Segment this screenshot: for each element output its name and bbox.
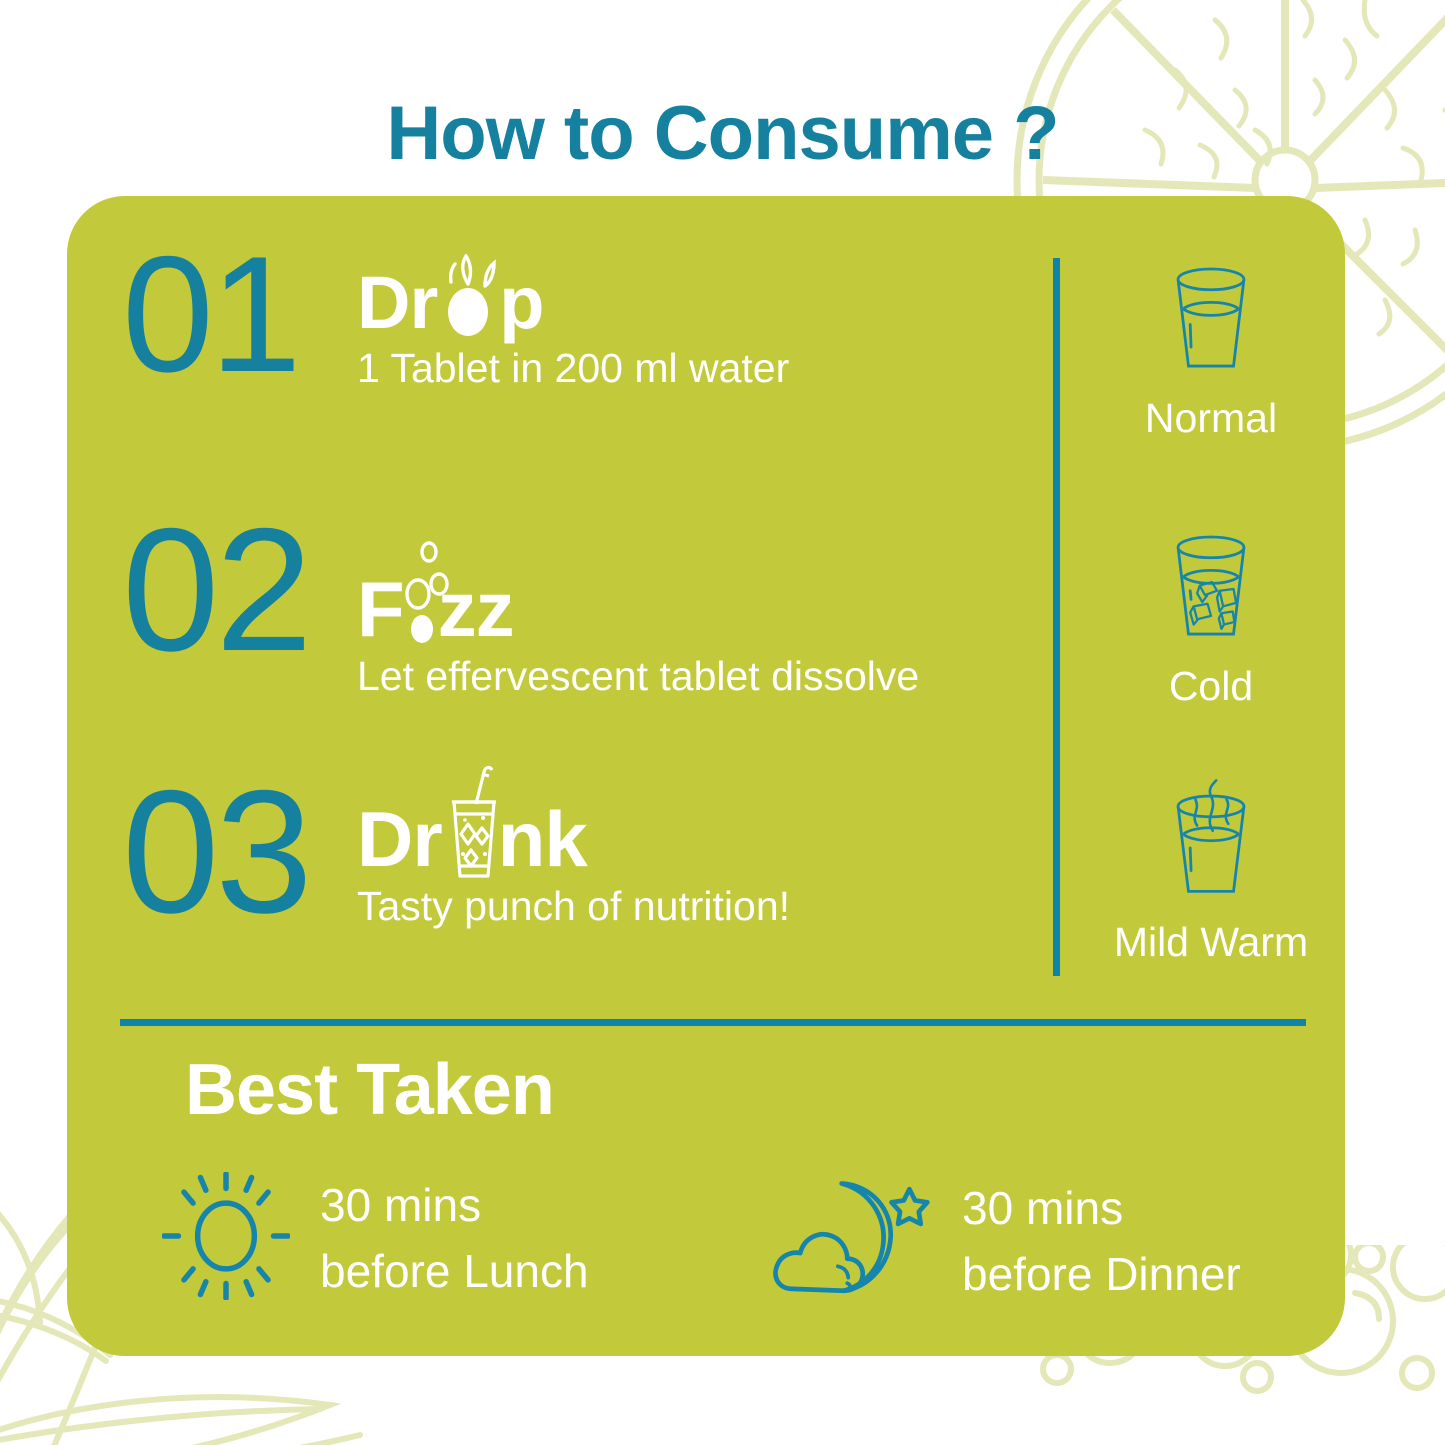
timing-line-2: before Dinner — [962, 1242, 1241, 1307]
bubbles-icon — [404, 570, 438, 648]
temperature-list: Normal — [1077, 196, 1345, 996]
timing-item-dinner: 30 mins before Dinner — [772, 1168, 1241, 1315]
glass-water-icon — [1077, 248, 1345, 383]
step-item-01: 01 Dr — [122, 244, 1052, 391]
step-word-fizz: F zz — [357, 570, 1052, 648]
glass-ice-icon — [1077, 516, 1345, 651]
step-subtitle: Tasty punch of nutrition! — [357, 884, 1052, 929]
step-number: 02 — [122, 516, 357, 667]
temperature-label: Mild Warm — [1077, 919, 1345, 966]
horizontal-divider — [120, 1019, 1306, 1026]
step-number: 03 — [122, 778, 357, 929]
timing-line-1: 30 mins — [962, 1176, 1241, 1241]
step-word-drop: Dr p — [357, 266, 1052, 340]
timing-text: 30 mins before Dinner — [962, 1176, 1241, 1307]
timing-item-lunch: 30 mins before Lunch — [162, 1172, 589, 1305]
step-item-02: 02 F — [122, 516, 1052, 699]
step-word-suffix: nk — [498, 802, 587, 876]
glass-steam-icon — [1077, 772, 1345, 907]
temperature-item-normal: Normal — [1077, 248, 1345, 442]
steps-list: 01 Dr — [67, 196, 1057, 996]
page-title: How to Consume ? — [0, 96, 1445, 172]
step-subtitle: 1 Tablet in 200 ml water — [357, 346, 1052, 391]
temperature-label: Cold — [1077, 663, 1345, 710]
step-body: F zz — [357, 516, 1052, 699]
main-card: 01 Dr — [67, 196, 1345, 1356]
step-subtitle: Let effervescent tablet dissolve — [357, 654, 1052, 699]
temperature-item-mild-warm: Mild Warm — [1077, 772, 1345, 966]
temperature-item-cold: Cold — [1077, 516, 1345, 710]
step-word-drink: Dr — [357, 800, 1052, 878]
drink-glass-icon — [442, 800, 498, 878]
timing-line-2: before Lunch — [320, 1239, 589, 1304]
vertical-divider — [1053, 258, 1060, 976]
moon-cloud-star-icon — [772, 1168, 932, 1315]
temperature-label: Normal — [1077, 395, 1345, 442]
sun-icon — [162, 1172, 290, 1305]
timing-text: 30 mins before Lunch — [320, 1173, 589, 1304]
step-number: 01 — [122, 244, 357, 386]
step-word-prefix: Dr — [357, 268, 437, 338]
step-word-suffix: p — [499, 268, 543, 338]
droplet-icon — [437, 266, 499, 340]
step-body: Dr p — [357, 244, 1052, 391]
infographic-canvas: How to Consume ? 01 Dr — [0, 0, 1445, 1445]
step-item-03: 03 Dr — [122, 778, 1052, 929]
step-body: Dr — [357, 778, 1052, 929]
best-taken-heading: Best Taken — [185, 1054, 554, 1126]
step-word-prefix: Dr — [357, 802, 442, 876]
timing-line-1: 30 mins — [320, 1173, 589, 1238]
